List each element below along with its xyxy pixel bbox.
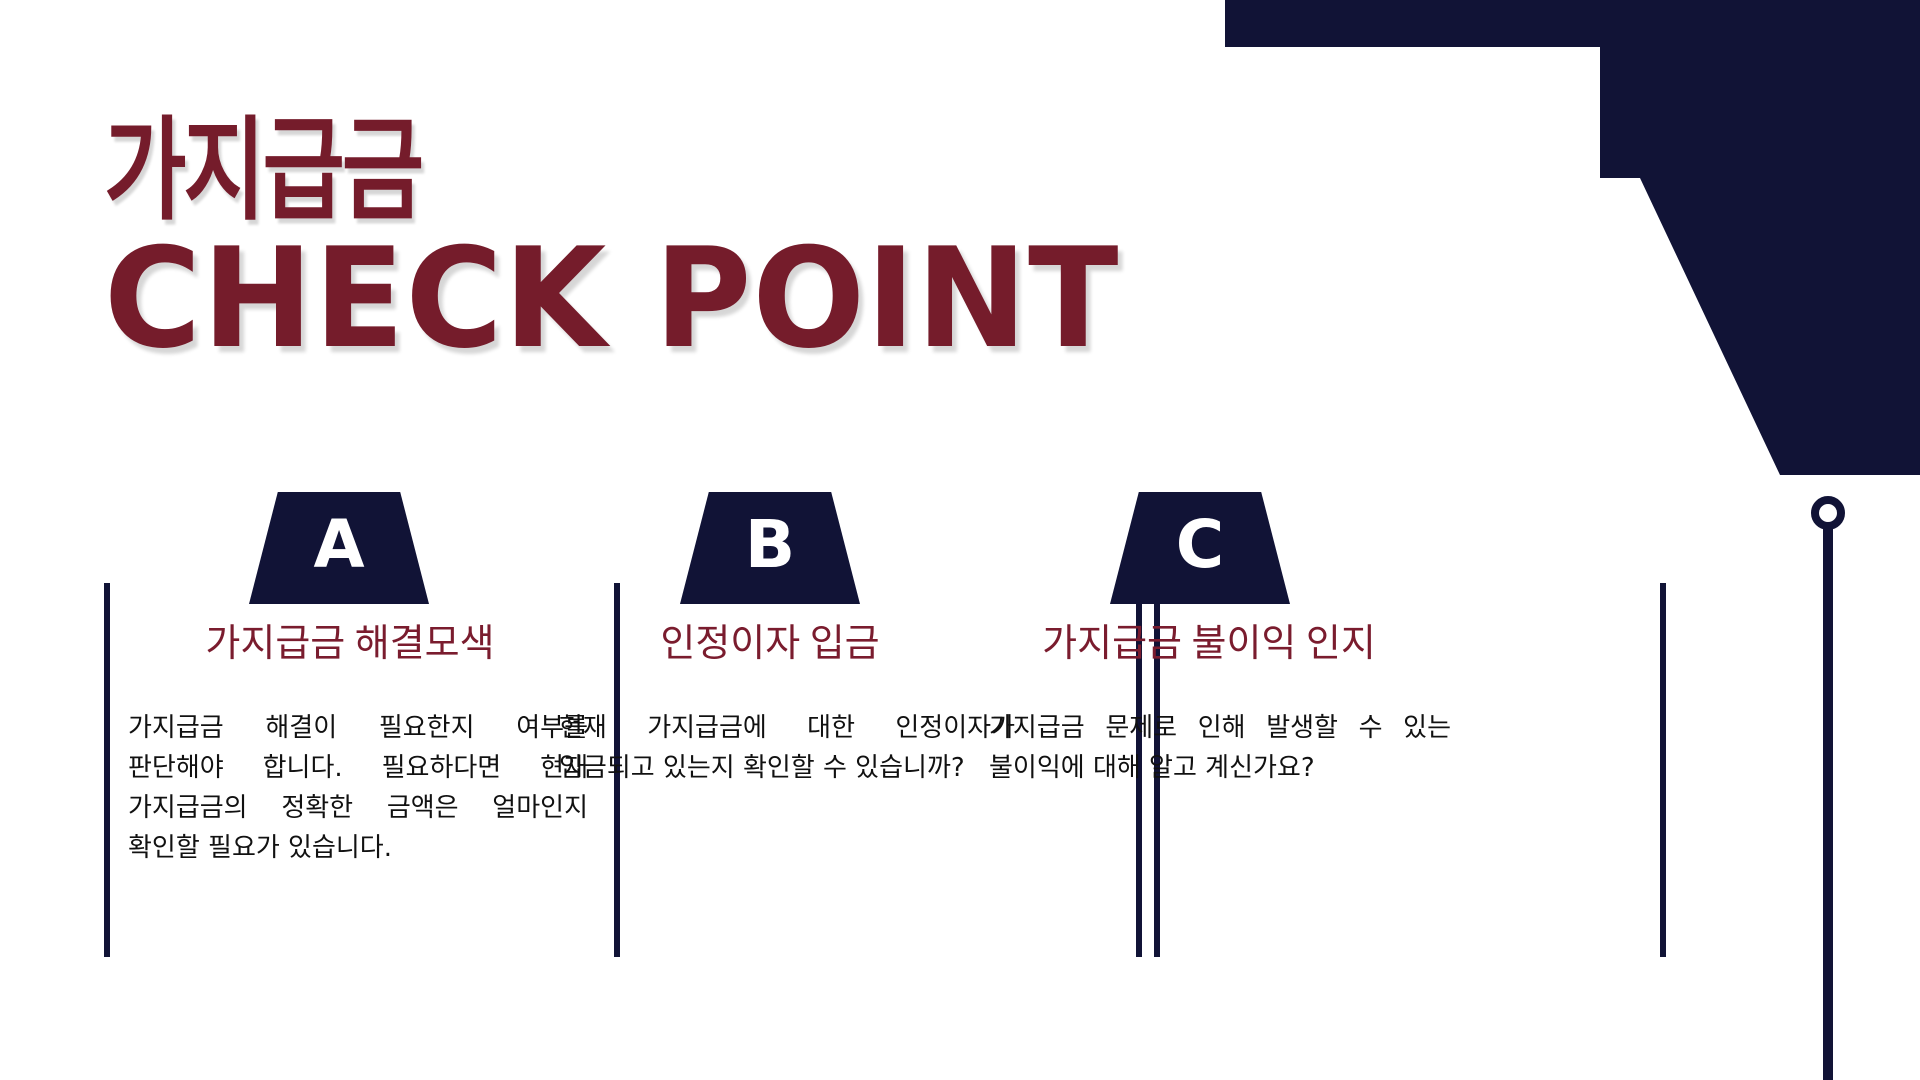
card-body-a: 가지급금 해결이 필요한지 여부를 판단해야 합니다. 필요하다면 현재 가지급… bbox=[104, 708, 588, 869]
pin-marker bbox=[1805, 495, 1851, 1080]
card-heading-a: 가지급금 해결모색 bbox=[126, 622, 574, 668]
badge-letter-c: C bbox=[1176, 512, 1224, 578]
page-title-english: CHECK POINT bbox=[104, 230, 1160, 368]
card-body-c: 가지급금 문제로 인해 발생할 수 있는 불이익에 대해 알고 계신가요? bbox=[965, 708, 1451, 789]
badge-wrap-a: A bbox=[104, 492, 574, 604]
title-block: 가지급금 CHECK POINT bbox=[104, 118, 1204, 368]
divider-right-c bbox=[1660, 583, 1666, 957]
checkpoint-card-c: C 가지급금 불이익 인지 가지급금 문제로 인해 발생할 수 있는 불이익에 … bbox=[965, 492, 1435, 788]
badge-trapezoid-c: C bbox=[1110, 492, 1290, 604]
checkpoint-card-b: B 인정이자 입금 현재 가지급금에 대한 인정이자가 입금되고 있는지 확인할… bbox=[535, 492, 1005, 788]
badge-letter-a: A bbox=[313, 512, 364, 578]
checkpoint-card-a: A 가지급금 해결모색 가지급금 해결이 필요한지 여부를 판단해야 합니다. … bbox=[104, 492, 574, 869]
card-heading-c: 가지급금 불이익 인지 bbox=[983, 622, 1435, 668]
badge-wrap-c: C bbox=[965, 492, 1435, 604]
badge-trapezoid-a: A bbox=[249, 492, 429, 604]
slide-canvas: 가지급금 CHECK POINT A 가지급금 해결모색 가지급금 해결이 필요… bbox=[0, 0, 1920, 1080]
badge-trapezoid-b: B bbox=[680, 492, 860, 604]
page-title-korean: 가지급금 bbox=[104, 118, 984, 224]
card-body-b: 현재 가지급금에 대한 인정이자가 입금되고 있는지 확인할 수 있습니까? bbox=[535, 708, 1015, 789]
badge-letter-b: B bbox=[745, 512, 795, 578]
card-heading-b: 인정이자 입금 bbox=[535, 622, 1005, 668]
badge-wrap-b: B bbox=[535, 492, 1005, 604]
